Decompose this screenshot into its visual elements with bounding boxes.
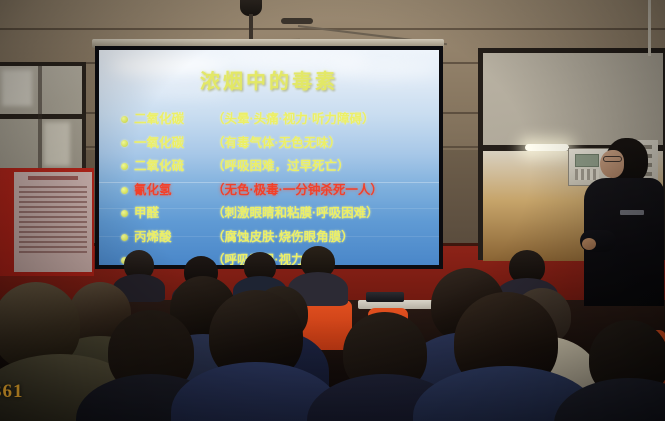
fluorescent-lamp — [525, 144, 569, 151]
bullet-description: （呼吸困难，过早死亡） — [212, 155, 350, 174]
poster-line — [19, 236, 87, 238]
poster-line — [19, 226, 87, 228]
bullet-dot-icon — [121, 163, 128, 170]
window-mullion-vertical — [38, 66, 42, 176]
poster-text-panel — [14, 172, 92, 272]
poster-line — [19, 246, 87, 248]
glasses-icon — [603, 156, 622, 162]
slide-bullet-item-highlighted: 氰化氢 （无色·极毒·一分钟杀死一人） — [121, 179, 433, 198]
poster-line — [19, 201, 87, 203]
bullet-dot-icon — [121, 234, 128, 241]
wall-conduit — [648, 0, 651, 56]
poster-line — [19, 206, 87, 208]
bullet-description: （有毒气体·无色无味） — [212, 132, 341, 151]
slide-bullet-item: 丙烯酸 （腐蚀皮肤·烧伤眼角膜） — [121, 226, 433, 245]
bullet-description: （腐蚀皮肤·烧伤眼角膜） — [212, 226, 354, 245]
poster-line — [19, 221, 87, 223]
speaker-mount — [249, 14, 253, 40]
projection-screen: 浓烟中的毒素 二氧化碳 （头晕·头痛·视力·听力障碍） 一氧化碳 （有毒气体·无… — [95, 46, 443, 269]
bullet-description: （刺激眼睛和粘膜·呼吸困难） — [212, 202, 379, 221]
bullet-dot-icon — [121, 116, 128, 123]
bullet-term: 甲醛 — [134, 202, 212, 221]
screen-hanger-bracket — [281, 18, 313, 24]
audience-member — [196, 306, 316, 421]
presenter — [578, 138, 664, 306]
bullet-term: 二氧化碳 — [134, 108, 212, 127]
watermark: 361 — [0, 381, 24, 403]
bullet-dot-icon — [121, 210, 128, 217]
slide-bullet-list: 二氧化碳 （头晕·头痛·视力·听力障碍） 一氧化碳 （有毒气体·无色无味） 二氧… — [121, 108, 433, 269]
left-window — [0, 62, 86, 180]
slide-bullet-item: 甲醛 （刺激眼睛和粘膜·呼吸困难） — [121, 202, 433, 221]
bullet-description: （头晕·头痛·视力·听力障碍） — [212, 108, 375, 127]
bullet-term: 二氧化硫 — [134, 155, 212, 174]
slide-bullet-item: 二氧化碳 （头晕·头痛·视力·听力障碍） — [121, 108, 433, 127]
bullet-description: （无色·极毒·一分钟杀死一人） — [212, 179, 383, 198]
poster-line — [19, 216, 87, 218]
poster-line — [19, 251, 87, 253]
slide-title: 浓烟中的毒素 — [99, 65, 439, 94]
bullet-dot-icon — [121, 140, 128, 147]
poster-line — [19, 186, 87, 188]
presenter-hand — [582, 238, 596, 250]
poster-line — [19, 241, 87, 243]
uniform-name-badge — [620, 210, 644, 215]
window-glare-2 — [44, 122, 70, 166]
bullet-term: 氰化氢 — [134, 179, 212, 198]
window-glare — [2, 70, 32, 106]
slide-bullet-item: 二氧化硫 （呼吸困难，过早死亡） — [121, 155, 433, 174]
poster-line — [19, 231, 87, 233]
audience-member — [438, 296, 574, 421]
slide-bullet-item: 一氧化碳 （有毒气体·无色无味） — [121, 132, 433, 151]
bullet-term: 丙烯酸 — [134, 226, 212, 245]
poster-line — [19, 196, 87, 198]
audience-member — [574, 326, 665, 421]
poster-heading — [28, 176, 78, 180]
bullet-term: 一氧化碳 — [134, 132, 212, 151]
poster-line — [19, 211, 87, 213]
classroom-photo: 浓烟中的毒素 二氧化碳 （头晕·头痛·视力·听力障碍） 一氧化碳 （有毒气体·无… — [0, 0, 665, 421]
poster-line — [19, 191, 87, 193]
presenter-face — [600, 150, 624, 178]
bullet-dot-icon — [121, 187, 128, 194]
laptop — [366, 292, 404, 302]
